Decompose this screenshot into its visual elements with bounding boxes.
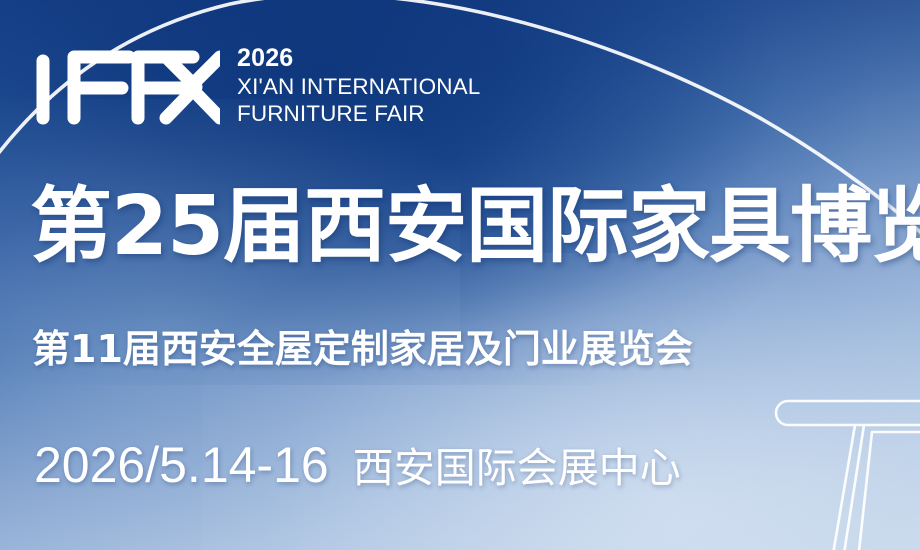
logo-line-2: FURNITURE FAIR [237, 103, 480, 126]
date-venue-line: 2026/5.14-16 西安国际会展中心 [34, 440, 681, 490]
iffx-wordmark-icon [34, 42, 220, 127]
event-date: 2026/5.14-16 [34, 440, 329, 490]
logo-line-1: XI'AN INTERNATIONAL [237, 76, 480, 99]
logo-year: 2026 [237, 46, 480, 71]
sub-headline: 第11届西安全屋定制家居及门业展览会 [32, 330, 693, 368]
exhibition-poster: 2026 XI'AN INTERNATIONAL FURNITURE FAIR … [0, 0, 920, 550]
main-headline: 第25届西安国际家具博览会 [30, 186, 920, 268]
event-venue: 西安国际会展中心 [353, 448, 681, 489]
logo-lockup: 2026 XI'AN INTERNATIONAL FURNITURE FAIR [34, 42, 480, 127]
logo-text-block: 2026 XI'AN INTERNATIONAL FURNITURE FAIR [237, 46, 480, 125]
